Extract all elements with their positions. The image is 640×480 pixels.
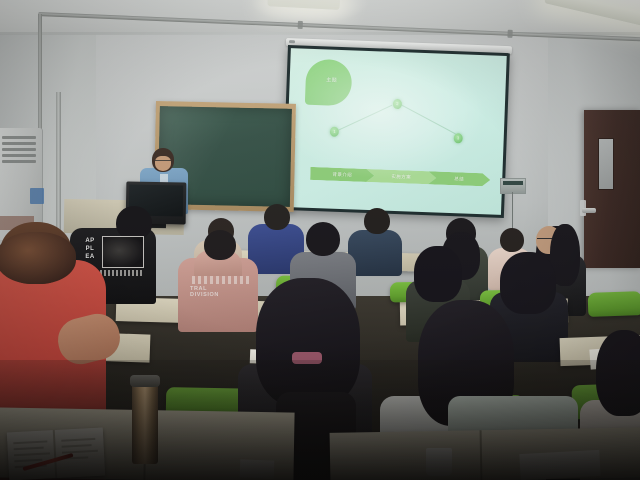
- classroom-door[interactable]: [584, 110, 640, 268]
- glasses-icon: [155, 160, 171, 164]
- wall-pipe: [56, 92, 61, 242]
- hoodie-graphic-script: [192, 276, 250, 284]
- chair: [588, 291, 640, 317]
- conduit-downpipe: [38, 14, 42, 134]
- shirt-graphic-line-3: EA: [82, 254, 98, 261]
- wall-control-panel[interactable]: [500, 178, 526, 194]
- shirt-graphic-line-2: PL: [82, 246, 98, 253]
- shirt-graphic-line-1: AP: [82, 238, 98, 245]
- projector-screen-frame: 主题 2 1 3 背景介绍 实施方案 总结: [282, 45, 510, 218]
- shirt-graphic-subtext: [100, 270, 144, 276]
- curly-hair: [0, 232, 76, 284]
- air-conditioner-badge: [30, 188, 44, 204]
- shirt-graphic-image: [102, 236, 144, 268]
- presenter-head: [152, 148, 174, 172]
- projector-screen-surface: 主题 2 1 3 背景介绍 实施方案 总结: [285, 48, 507, 215]
- foreground-shadow: [0, 360, 640, 480]
- air-conditioner-vents: [2, 136, 36, 170]
- door-window: [598, 138, 614, 190]
- roller-bracket: [289, 40, 295, 43]
- projector-hotspot: [285, 48, 507, 215]
- door-handle[interactable]: [582, 208, 596, 213]
- classroom-photo: 主题 2 1 3 背景介绍 实施方案 总结: [0, 0, 640, 480]
- hoodie-graphic-text: TRAL DIVISION: [190, 286, 219, 298]
